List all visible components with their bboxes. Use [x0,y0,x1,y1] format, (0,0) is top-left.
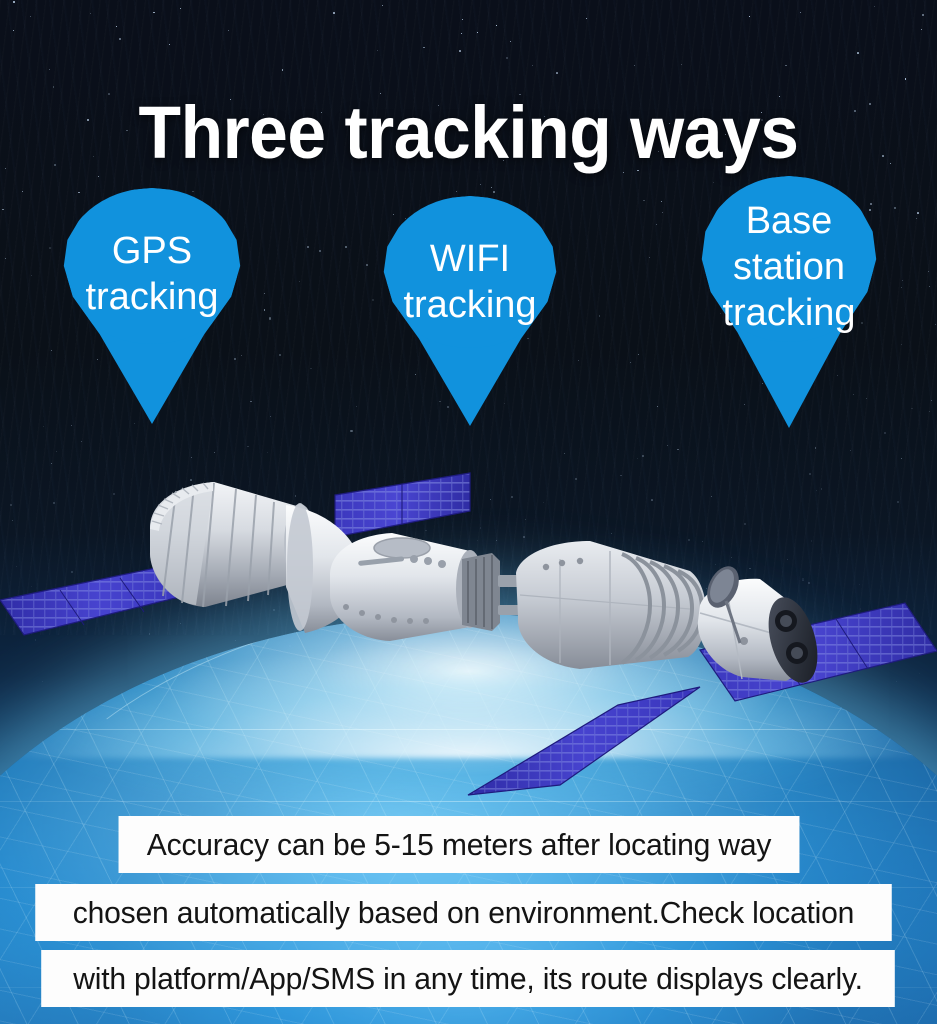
poster-title: Three tracking ways [28,96,909,170]
pin-label-base-station: Base station tracking [688,176,890,336]
caption-bar-1: Accuracy can be 5-15 meters after locati… [119,816,800,873]
caption-bar-2: chosen automatically based on environmen… [35,884,892,941]
pin-label-wifi: WIFI tracking [370,196,570,328]
pin-label-gps: GPS tracking [50,188,254,320]
caption-text-3: with platform/App/SMS in any time, its r… [73,961,863,997]
solar-panel-left-upper [335,473,470,537]
caption-bar-3: with platform/App/SMS in any time, its r… [41,950,895,1007]
promo-poster: Three tracking ways GPS tracking WIFI tr… [0,0,937,1024]
caption-text-2: chosen automatically based on environmen… [73,895,854,931]
satellite-aft-module [516,541,706,669]
satellite-illustration [0,455,937,815]
caption-text-1: Accuracy can be 5-15 meters after locati… [147,827,772,863]
solar-panel-right-lower [468,687,700,795]
pin-gps[interactable]: GPS tracking [62,188,242,424]
pin-base-station[interactable]: Base station tracking [700,176,878,428]
pin-wifi[interactable]: WIFI tracking [382,196,558,426]
